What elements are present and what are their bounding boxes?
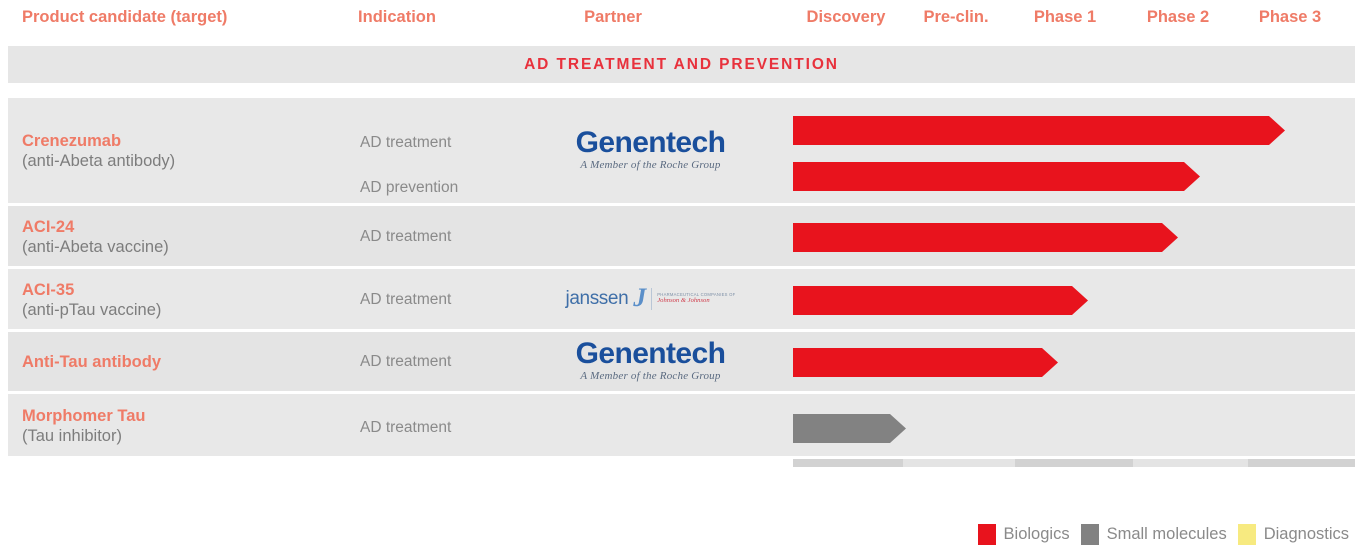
genentech-tagline: A Member of the Roche Group [576, 160, 726, 171]
indication-label: AD treatment [360, 228, 451, 246]
product-candidate-cell: Morphomer Tau(Tau inhibitor) [22, 406, 352, 447]
pipeline-bar-shape [793, 162, 1200, 191]
pipeline-bar[interactable] [793, 414, 908, 443]
column-header-indication: Indication [358, 8, 436, 27]
janssen-mark-icon: J [633, 288, 646, 309]
janssen-tagline-line2: Johnson & Johnson [657, 297, 735, 305]
product-target: (anti-pTau vaccine) [22, 300, 352, 320]
column-header-phase-3: Phase 3 [1259, 8, 1321, 27]
legend-item[interactable]: Diagnostics [1238, 524, 1349, 545]
table-row[interactable]: Anti-Tau antibodyAD treatmentGenentechA … [8, 332, 1355, 394]
legend-swatch-icon [978, 524, 996, 545]
product-name: Anti-Tau antibody [22, 352, 352, 372]
table-row[interactable]: Crenezumab(anti-Abeta antibody)AD treatm… [8, 98, 1355, 206]
column-header-discovery: Discovery [807, 8, 886, 27]
pipeline-bar[interactable] [793, 162, 1202, 191]
product-candidate-cell: ACI-35(anti-pTau vaccine) [22, 280, 352, 321]
pipeline-bar-shape [793, 286, 1088, 315]
pipeline-chart: Product candidate (target)IndicationPart… [0, 0, 1363, 557]
table-row[interactable]: ACI-35(anti-pTau vaccine)AD treatmentjan… [8, 269, 1355, 332]
table-row[interactable]: Morphomer Tau(Tau inhibitor)AD treatment [8, 394, 1355, 459]
section-banner: AD TREATMENT AND PREVENTION [8, 46, 1355, 83]
product-target: (anti-Abeta antibody) [22, 151, 352, 171]
pipeline-bar-shape [793, 348, 1058, 377]
janssen-tagline: PHARMACEUTICAL COMPANIES OFJohnson & Joh… [657, 292, 735, 305]
column-header-pre-clin: Pre-clin. [923, 8, 988, 27]
pipeline-bar[interactable] [793, 286, 1090, 315]
legend-label: Small molecules [1107, 525, 1227, 544]
pipeline-bar-shape [793, 223, 1178, 252]
pipeline-bar[interactable] [793, 223, 1180, 252]
pipeline-bar[interactable] [793, 116, 1287, 145]
product-name: ACI-35 [22, 280, 352, 300]
pipeline-bar-shape [793, 414, 906, 443]
column-header-partner: Partner [584, 8, 642, 27]
column-header-phase-2: Phase 2 [1147, 8, 1209, 27]
indication-label: AD treatment [360, 419, 451, 437]
legend-swatch-icon [1081, 524, 1099, 545]
product-candidate-cell: Crenezumab(anti-Abeta antibody) [22, 131, 352, 172]
section-banner-title: AD TREATMENT AND PREVENTION [524, 56, 839, 74]
partner-logo-janssen: janssenJPHARMACEUTICAL COMPANIES OFJohns… [566, 288, 736, 310]
janssen-divider [651, 288, 652, 310]
indication-label: AD treatment [360, 353, 451, 371]
partner-cell: janssenJPHARMACEUTICAL COMPANIES OFJohns… [508, 288, 793, 310]
product-name: ACI-24 [22, 217, 352, 237]
partner-cell: GenentechA Member of the Roche Group [508, 339, 793, 382]
column-header-product-candidate-target: Product candidate (target) [22, 8, 227, 27]
product-name: Morphomer Tau [22, 406, 352, 426]
partner-cell: GenentechA Member of the Roche Group [508, 128, 793, 171]
product-target: (anti-Abeta vaccine) [22, 237, 352, 257]
indication-label: AD treatment [360, 291, 451, 309]
pipeline-bar-shape [793, 116, 1285, 145]
legend-swatch-icon [1238, 524, 1256, 545]
janssen-wordmark: janssen [566, 288, 629, 310]
genentech-tagline: A Member of the Roche Group [576, 371, 726, 382]
product-candidate-cell: Anti-Tau antibody [22, 352, 352, 372]
indication-label: AD prevention [360, 179, 458, 197]
genentech-wordmark: Genentech [576, 339, 726, 369]
legend-item[interactable]: Biologics [978, 524, 1070, 545]
column-header-row: Product candidate (target)IndicationPart… [0, 0, 1363, 38]
legend-label: Biologics [1004, 525, 1070, 544]
product-target: (Tau inhibitor) [22, 426, 352, 446]
indication-label: AD treatment [360, 134, 451, 152]
pipeline-bar[interactable] [793, 348, 1060, 377]
partner-logo-genentech: GenentechA Member of the Roche Group [576, 128, 726, 171]
chart-legend: BiologicsSmall moleculesDiagnostics [978, 524, 1349, 545]
table-row[interactable]: ACI-24(anti-Abeta vaccine)AD treatment [8, 206, 1355, 269]
column-header-phase-1: Phase 1 [1034, 8, 1096, 27]
product-name: Crenezumab [22, 131, 352, 151]
product-candidate-cell: ACI-24(anti-Abeta vaccine) [22, 217, 352, 258]
pipeline-rows: Crenezumab(anti-Abeta antibody)AD treatm… [8, 98, 1355, 459]
genentech-wordmark: Genentech [576, 128, 726, 158]
legend-label: Diagnostics [1264, 525, 1349, 544]
partner-logo-genentech: GenentechA Member of the Roche Group [576, 339, 726, 382]
legend-item[interactable]: Small molecules [1081, 524, 1227, 545]
